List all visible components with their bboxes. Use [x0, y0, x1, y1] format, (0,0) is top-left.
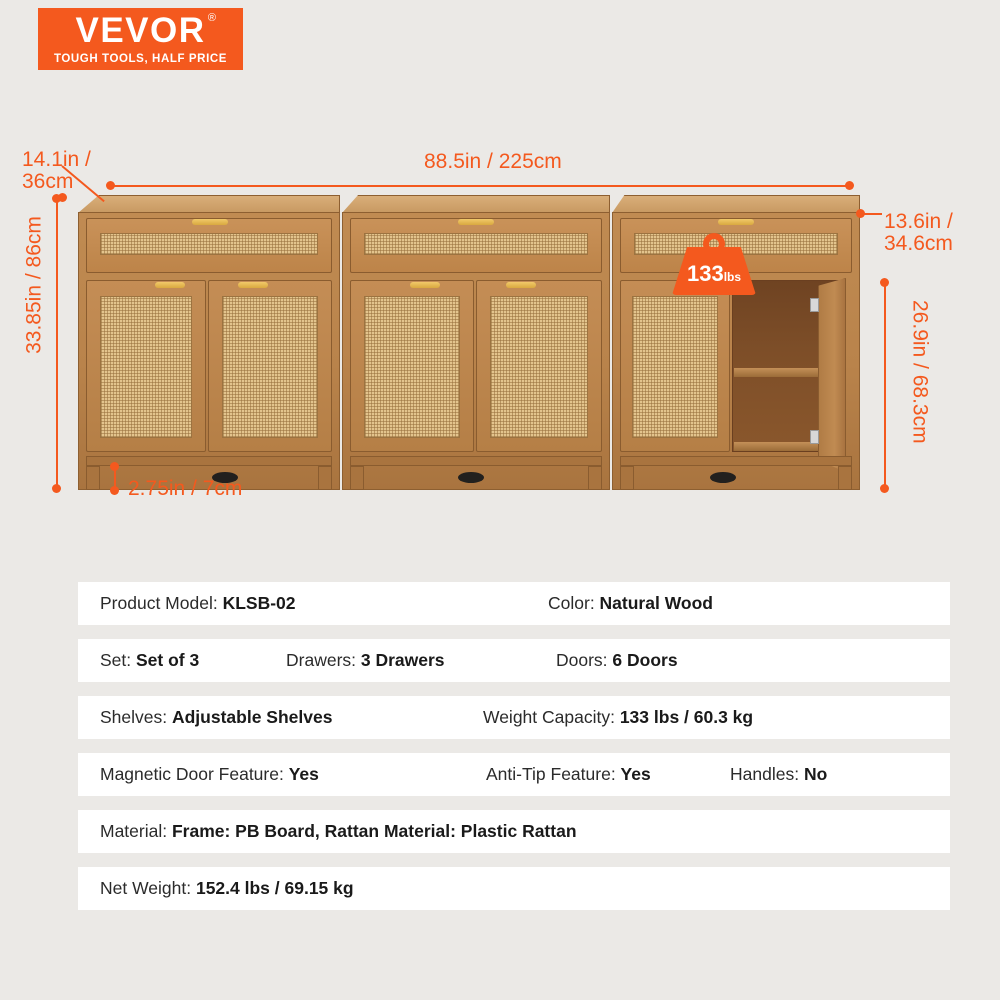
spec-cell: Shelves: Adjustable Shelves	[100, 707, 332, 728]
leg-height-label: 2.75in / 7cm	[128, 477, 242, 501]
spec-label: Net Weight:	[100, 878, 196, 898]
cabinet-right-anti-tip-foot	[710, 472, 736, 483]
interior-height-dot-top	[880, 278, 889, 287]
spec-cell: Color: Natural Wood	[548, 593, 713, 614]
spec-value: Yes	[289, 764, 319, 784]
cabinet-middle-door-1-rattan	[364, 296, 460, 438]
spec-label: Doors:	[556, 650, 612, 670]
spec-label: Material:	[100, 821, 172, 841]
spec-value: Natural Wood	[600, 593, 713, 613]
width-dimension-line	[110, 185, 850, 187]
depth-dimension-label-line1: 14.1in /	[22, 148, 91, 172]
spec-cell: Doors: 6 Doors	[556, 650, 678, 671]
spec-value: 133 lbs / 60.3 kg	[620, 707, 753, 727]
table-row: Shelves: Adjustable Shelves Weight Capac…	[78, 696, 950, 739]
width-dimension-label: 88.5in / 225cm	[424, 150, 562, 174]
table-row: Net Weight: 152.4 lbs / 69.15 kg	[78, 867, 950, 910]
cabinet-right-drawer-handle	[718, 219, 754, 225]
cabinet-right-hinge-top	[810, 298, 819, 312]
spec-value: No	[804, 764, 827, 784]
spec-label: Product Model:	[100, 593, 223, 613]
spec-cell: Drawers: 3 Drawers	[286, 650, 445, 671]
height-dimension-dot-bottom	[52, 484, 61, 493]
right-depth-dot	[856, 209, 865, 218]
vevor-logo: VEVOR® TOUGH TOOLS, HALF PRICE	[38, 8, 243, 70]
specifications-table: Product Model: KLSB-02 Color: Natural Wo…	[78, 582, 950, 924]
spec-cell: Weight Capacity: 133 lbs / 60.3 kg	[483, 707, 753, 728]
spec-value: KLSB-02	[223, 593, 296, 613]
brand-tagline: TOUGH TOOLS, HALF PRICE	[54, 53, 227, 65]
spec-label: Shelves:	[100, 707, 172, 727]
spec-value: Yes	[621, 764, 651, 784]
interior-height-line	[884, 282, 886, 488]
height-dimension-label: 33.85in / 86cm	[22, 216, 46, 354]
product-spec-page: VEVOR® TOUGH TOOLS, HALF PRICE	[0, 0, 1000, 1000]
spec-value: 6 Doors	[612, 650, 677, 670]
spec-cell: Anti-Tip Feature: Yes	[486, 764, 651, 785]
cabinet-right-hinge-bottom	[810, 430, 819, 444]
leg-height-dot-top	[110, 462, 119, 471]
cabinet-left-drawer-rattan	[100, 233, 318, 255]
cabinet-right-leg-1	[620, 466, 634, 490]
cabinet-middle-drawer-handle	[458, 219, 494, 225]
leg-height-dot-bottom	[110, 486, 119, 495]
spec-label: Handles:	[730, 764, 804, 784]
cabinet-middle-door-1-handle	[410, 282, 440, 288]
spec-value: Frame: PB Board, Rattan Material: Plasti…	[172, 821, 577, 841]
cabinet-middle-anti-tip-foot	[458, 472, 484, 483]
cabinet-left-base-rail	[86, 456, 332, 466]
depth-dimension-label-line2: 36cm	[22, 170, 73, 194]
cabinet-left-door-1-rattan	[100, 296, 192, 438]
cabinet-right-top-surface	[612, 195, 860, 213]
spec-label: Set:	[100, 650, 136, 670]
right-depth-label-line1: 13.6in /	[884, 210, 953, 234]
cabinet-left-door-1-handle	[155, 282, 185, 288]
spec-value: 3 Drawers	[361, 650, 445, 670]
cabinet-left-door-2-rattan	[222, 296, 318, 438]
spec-cell: Material: Frame: PB Board, Rattan Materi…	[100, 821, 577, 842]
cabinet-middle-door-2-rattan	[490, 296, 588, 438]
cabinet-middle-door-2-handle	[506, 282, 536, 288]
cabinet-right-door-closed-rattan	[632, 296, 718, 438]
cabinet-middle-top-surface	[342, 195, 610, 213]
table-row: Material: Frame: PB Board, Rattan Materi…	[78, 810, 950, 853]
table-row: Product Model: KLSB-02 Color: Natural Wo…	[78, 582, 950, 625]
table-row: Magnetic Door Feature: Yes Anti-Tip Feat…	[78, 753, 950, 796]
brand-name: VEVOR®	[75, 13, 205, 48]
weight-badge-text: 133lbs	[672, 263, 756, 285]
table-row: Set: Set of 3 Drawers: 3 Drawers Doors: …	[78, 639, 950, 682]
spec-cell: Set: Set of 3	[100, 650, 199, 671]
cabinet-right-leg-2	[838, 466, 852, 490]
interior-height-label: 26.9in / 68.3cm	[908, 300, 932, 444]
registered-mark: ®	[208, 13, 218, 24]
spec-cell: Handles: No	[730, 764, 827, 785]
right-depth-label-line2: 34.6cm	[884, 232, 953, 256]
interior-height-dot-bottom	[880, 484, 889, 493]
weight-capacity-badge: 133lbs	[672, 233, 756, 295]
cabinet-left-door-2-handle	[238, 282, 268, 288]
height-dimension-line	[56, 198, 58, 488]
cabinet-left-leg-2	[318, 466, 332, 490]
cabinet-middle-leg-2	[588, 466, 602, 490]
spec-cell: Net Weight: 152.4 lbs / 69.15 kg	[100, 878, 354, 899]
cabinet-right-base-rail	[620, 456, 852, 466]
width-dimension-dot-left	[106, 181, 115, 190]
spec-value: Set of 3	[136, 650, 199, 670]
spec-label: Anti-Tip Feature:	[486, 764, 621, 784]
cabinet-middle-leg-1	[350, 466, 364, 490]
cabinet-left-leg-1	[86, 466, 100, 490]
brand-name-text: VEVOR	[75, 11, 205, 50]
weight-badge-value: 133	[687, 261, 724, 286]
width-dimension-dot-right	[845, 181, 854, 190]
spec-label: Drawers:	[286, 650, 361, 670]
height-dimension-dot-top	[52, 194, 61, 203]
spec-value: 152.4 lbs / 69.15 kg	[196, 878, 354, 898]
spec-label: Weight Capacity:	[483, 707, 620, 727]
cabinet-left-top-surface	[78, 195, 340, 213]
cabinet-left-drawer-handle	[192, 219, 228, 225]
spec-cell: Product Model: KLSB-02	[100, 593, 296, 614]
spec-value: Adjustable Shelves	[172, 707, 332, 727]
spec-label: Magnetic Door Feature:	[100, 764, 289, 784]
spec-label: Color:	[548, 593, 600, 613]
spec-cell: Magnetic Door Feature: Yes	[100, 764, 319, 785]
cabinet-middle-drawer-rattan	[364, 233, 588, 255]
weight-badge-unit: lbs	[724, 270, 741, 284]
cabinet-middle-base-rail	[350, 456, 602, 466]
cabinet-right-door-open	[818, 278, 846, 472]
product-diagram: 88.5in / 225cm 14.1in / 36cm 33.85in / 8…	[0, 100, 1000, 540]
